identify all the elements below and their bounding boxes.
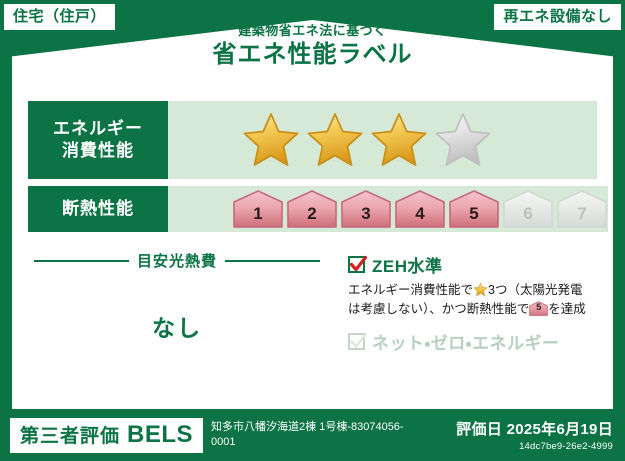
inline-house-value: 5 [529, 301, 548, 316]
zeh-checkbox[interactable] [348, 256, 365, 273]
zeh-desc-part1: エネルギー消費性能で [348, 283, 473, 297]
energy-cost-heading: 目安光熱費 [12, 250, 342, 271]
label-body: エネルギー 消費性能 断熱性能 1234567 目安光熱費 [12, 88, 613, 409]
lower-section: 目安光熱費 なし ZEH水準 エネルギー消費性能で3つ（太陽光発電は考慮しない）… [12, 246, 613, 409]
energy-cost-section: 目安光熱費 なし [12, 246, 342, 409]
house-level-filled: 5 [448, 189, 500, 229]
label-footer: 第三者評価 BELS 知多市八幡汐海道2棟 1号棟-83074056-0001 … [0, 409, 625, 461]
house-level-value: 2 [307, 205, 316, 229]
renewable-equipment-tag: 再エネ設備なし [494, 4, 621, 30]
house-level-empty: 7 [556, 189, 608, 229]
energy-performance-label-line1: エネルギー [53, 118, 143, 140]
zeh-standard-row: ZEH水準 [342, 252, 613, 277]
check-icon [348, 254, 369, 275]
energy-cost-value: なし [12, 309, 342, 343]
zeh-desc-part2: は考慮しない）、かつ断熱性能で [348, 302, 529, 316]
house-level-value: 6 [523, 205, 532, 229]
star-empty-icon [432, 110, 494, 170]
energy-performance-label-line2: 消費性能 [62, 140, 134, 162]
zeh-desc-part3: を達成 [548, 302, 586, 316]
label-header: 建築物省エネ法に基づく 省エネ性能ラベル [0, 24, 625, 70]
energy-performance-value [168, 101, 597, 179]
bels-badge-logo: BELS [127, 423, 193, 447]
energy-performance-label: エネルギー 消費性能 [28, 101, 168, 179]
header-title: 省エネ性能ラベル [0, 41, 625, 70]
star-filled-icon [240, 110, 302, 170]
star-rating [178, 110, 494, 170]
house-level-value: 5 [469, 205, 478, 229]
star-filled-icon [368, 110, 430, 170]
insulation-performance-label-text: 断熱性能 [62, 198, 134, 220]
energy-performance-row: エネルギー 消費性能 [28, 101, 597, 179]
house-rating-scale: 1234567 [178, 189, 608, 229]
energy-cost-heading-text: 目安光熱費 [137, 250, 217, 271]
zeh-standard-title: ZEH水準 [372, 252, 443, 277]
check-icon-disabled [348, 331, 369, 352]
insulation-performance-row: 断熱性能 1234567 [28, 186, 597, 232]
house-level-empty: 6 [502, 189, 554, 229]
house-level-value: 3 [361, 205, 370, 229]
house-level-value: 4 [415, 205, 424, 229]
house-level-filled: 3 [340, 189, 392, 229]
insulation-performance-label: 断熱性能 [28, 186, 168, 232]
house-level-filled: 1 [232, 189, 284, 229]
energy-performance-label: 住宅（住戸） 再エネ設備なし 建築物省エネ法に基づく 省エネ性能ラベル エネルギ… [0, 0, 625, 461]
zeh-desc-stars: 3つ（太陽光発電 [488, 283, 582, 297]
property-address: 知多市八幡汐海道2棟 1号棟-83074056-0001 [211, 420, 411, 450]
net-zero-energy-title: ネット・ゼロ・エネルギー [372, 329, 560, 354]
inline-star-icon [473, 282, 488, 297]
heading-rule-right [225, 260, 320, 262]
inline-house-icon: 5 [529, 301, 548, 316]
net-zero-checkbox[interactable] [348, 333, 365, 350]
zeh-description: エネルギー消費性能で3つ（太陽光発電は考慮しない）、かつ断熱性能で5を達成 [342, 281, 594, 320]
house-level-filled: 2 [286, 189, 338, 229]
star-filled-icon [304, 110, 366, 170]
building-type-tag: 住宅（住戸） [4, 4, 115, 30]
zeh-section: ZEH水準 エネルギー消費性能で3つ（太陽光発電は考慮しない）、かつ断熱性能で5… [342, 246, 613, 409]
house-level-value: 1 [253, 205, 262, 229]
footer-meta: 評価日 2025年6月19日 14dc7be9-26e2-4999 [456, 418, 613, 452]
evaluation-date: 評価日 2025年6月19日 [456, 418, 613, 439]
bels-badge: 第三者評価 BELS [10, 418, 203, 453]
house-level-value: 7 [577, 205, 586, 229]
heading-rule-left [34, 260, 129, 262]
bels-badge-jp: 第三者評価 [20, 427, 120, 446]
net-zero-energy-row: ネット・ゼロ・エネルギー [342, 329, 613, 354]
insulation-performance-value: 1234567 [168, 186, 608, 232]
house-level-filled: 4 [394, 189, 446, 229]
certificate-id: 14dc7be9-26e2-4999 [456, 441, 613, 452]
